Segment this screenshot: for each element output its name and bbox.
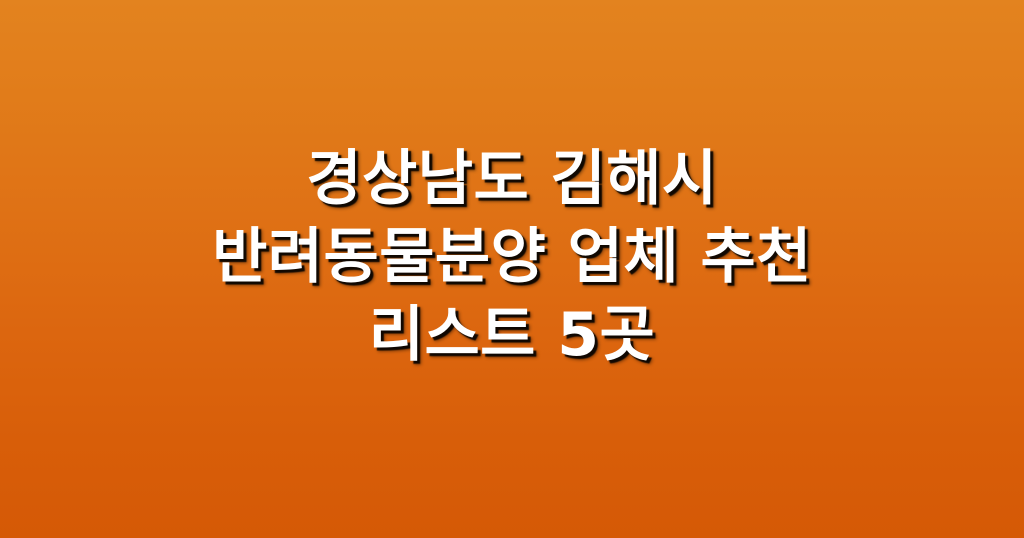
headline-line-1: 경상남도 김해시 [24, 140, 1000, 218]
headline-line-3: 리스트 5곳 [24, 296, 1000, 374]
headline-line-2: 반려동물분양 업체 추천 [24, 218, 1000, 296]
banner-background: 경상남도 김해시 반려동물분양 업체 추천 리스트 5곳 [0, 0, 1024, 538]
page-title: 경상남도 김해시 반려동물분양 업체 추천 리스트 5곳 [0, 140, 1024, 374]
